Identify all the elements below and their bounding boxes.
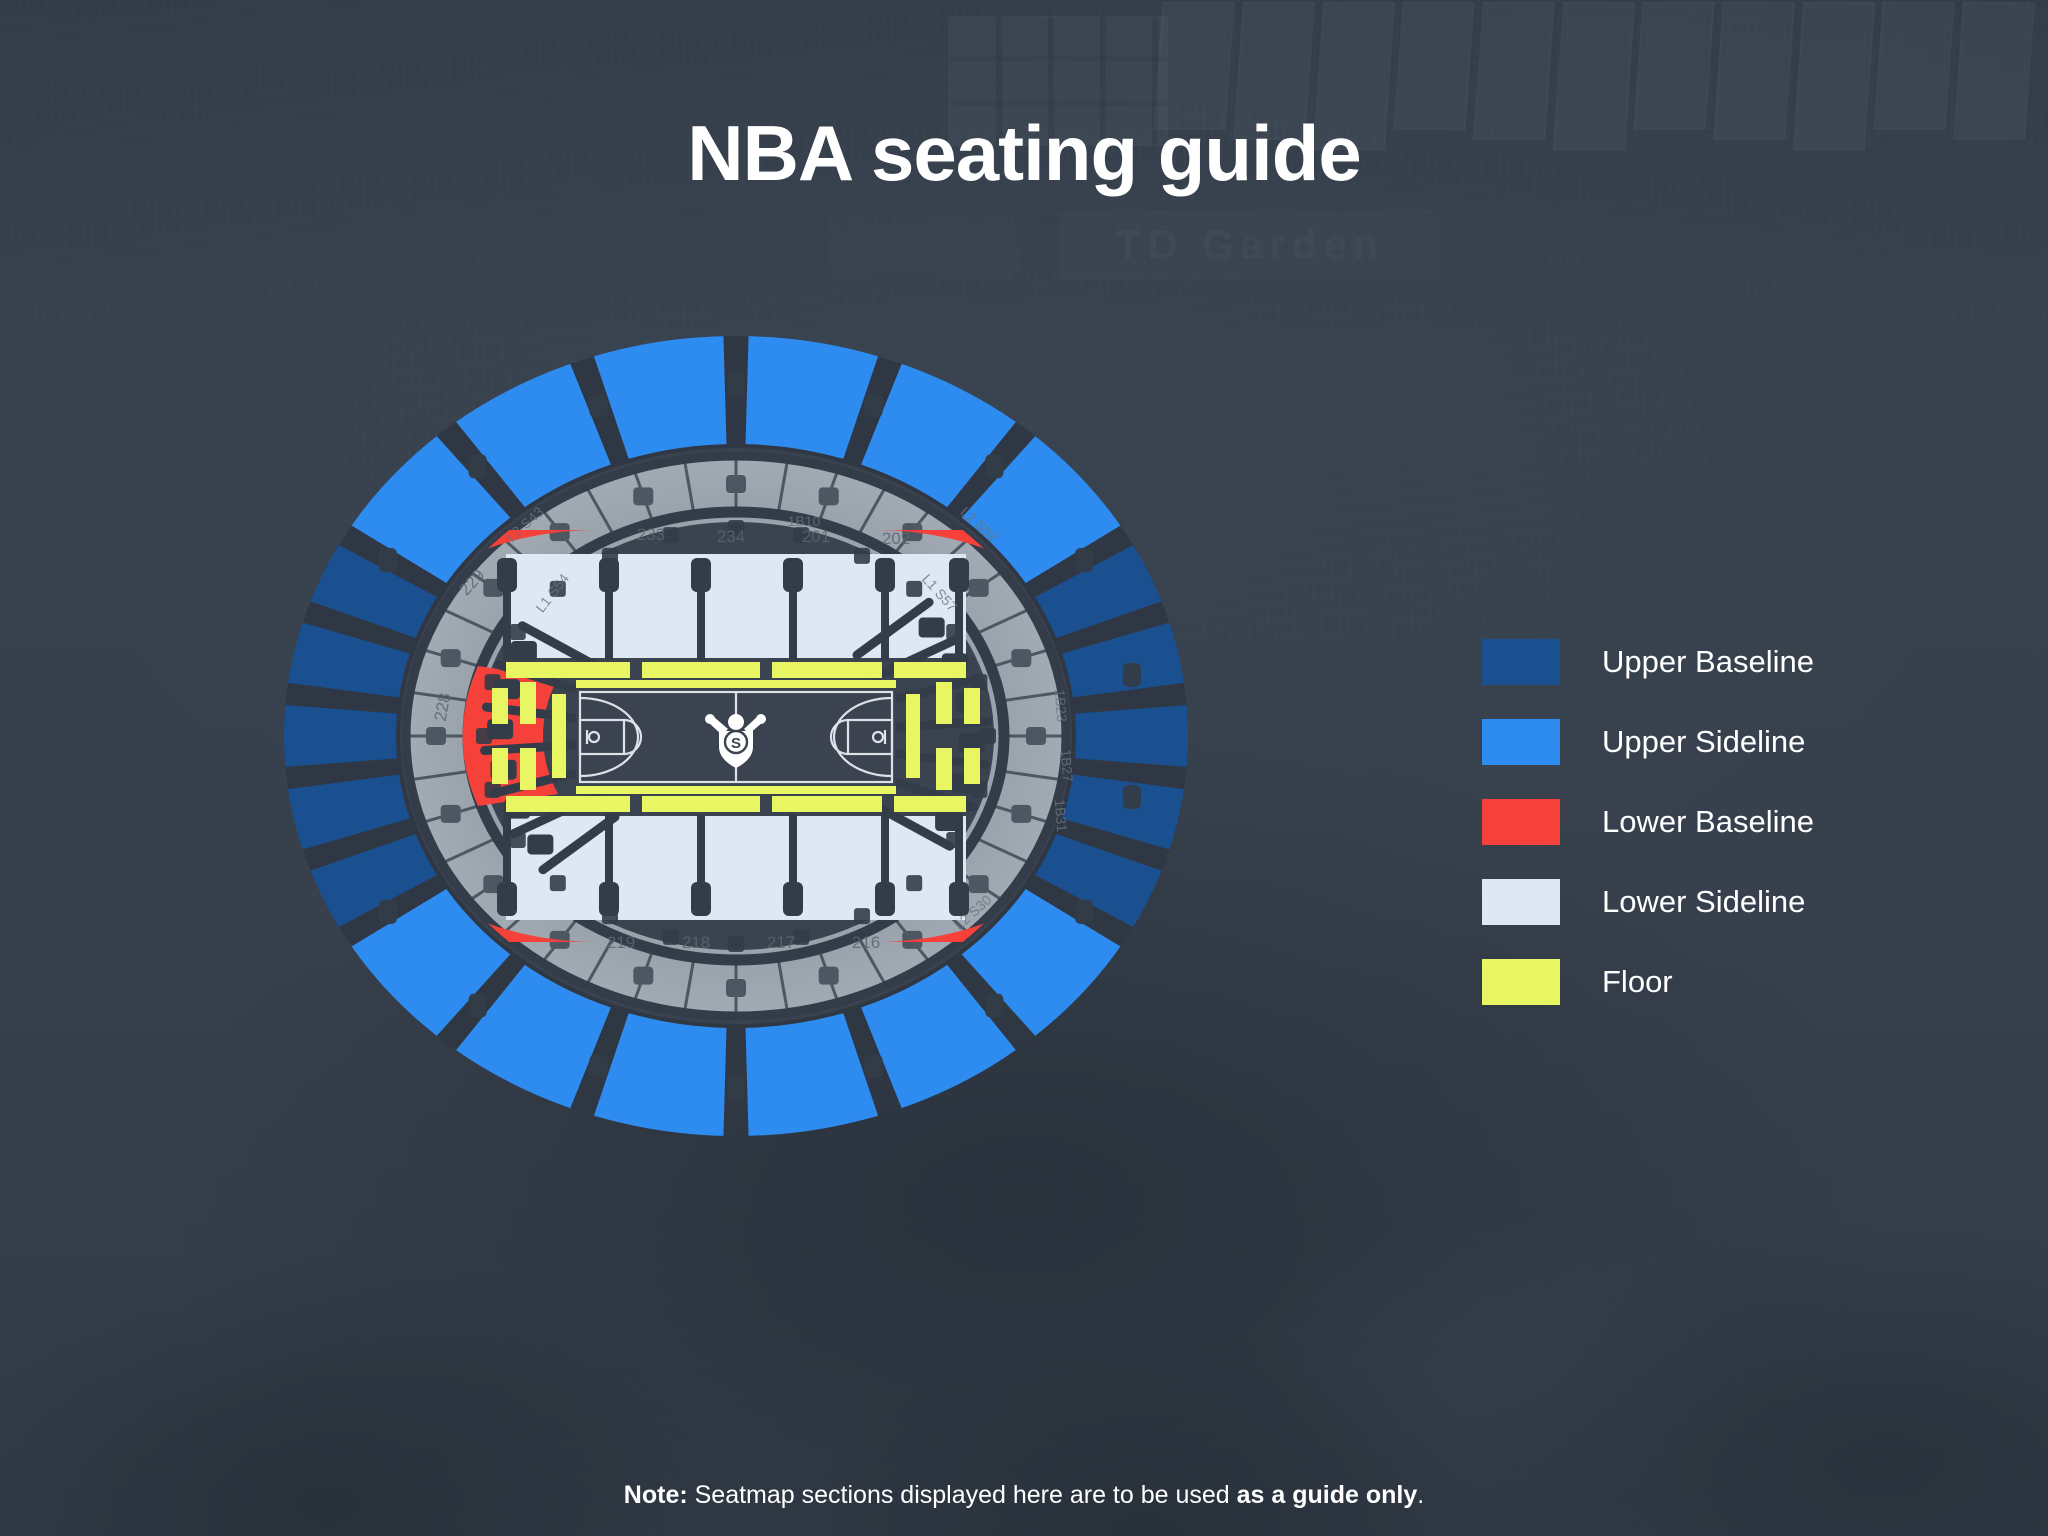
concourse-label: 1B31 [1052, 799, 1070, 833]
concourse-vomitory [726, 475, 746, 493]
concourse-vomitory [633, 967, 653, 985]
section-label: 201 [802, 527, 830, 546]
lower-bowl-vomitory [906, 581, 922, 597]
lower-sideline-aisle [783, 558, 803, 592]
upper-vomitory [985, 994, 1003, 1018]
section-label: 216 [852, 933, 880, 952]
lower-bowl-vomitory [602, 548, 618, 564]
upper-vomitory [1123, 785, 1141, 809]
upper-vomitory [1075, 548, 1093, 572]
concourse-vomitory [819, 487, 839, 505]
lower-bowl-vomitory [485, 782, 501, 798]
upper-vomitory [727, 372, 745, 396]
lower-bowl-vomitory [946, 832, 962, 848]
section-label: 219 [607, 933, 635, 952]
lower-sideline-aisle [697, 814, 705, 884]
section-label: 233 [637, 525, 665, 544]
legend-label-lower-baseline: Lower Baseline [1602, 804, 1814, 840]
legend-label-lower-sideline: Lower Sideline [1602, 884, 1805, 920]
page-title: NBA seating guide [0, 114, 2048, 192]
legend-item-lower-sideline[interactable]: Lower Sideline [1482, 862, 1902, 942]
lower-bowl-vomitory [854, 908, 870, 924]
footer-note: Note: Seatmap sections displayed here ar… [0, 1481, 2048, 1510]
footer-note-end: . [1417, 1481, 1424, 1509]
footer-note-body: Seatmap sections displayed here are to b… [688, 1481, 1237, 1509]
lower-bowl-vomitory [946, 624, 962, 640]
seatmap-svg[interactable]: S 233234201202219218217216229228 L2 S43L… [176, 296, 1296, 1176]
concourse-vomitory [633, 487, 653, 505]
concourse-vomitory [441, 805, 461, 823]
concourse-label: 1B10 [788, 513, 821, 529]
section-label: 217 [767, 933, 795, 952]
section-label: 202 [882, 529, 910, 548]
concourse-label: 1B23 [1052, 689, 1070, 723]
baseline-entry [935, 811, 961, 831]
lower-bowl-vomitory [793, 929, 809, 945]
legend-swatch-lower-baseline [1482, 799, 1560, 845]
lower-bowl-vomitory [971, 674, 987, 690]
lower-sideline-aisle [949, 558, 969, 592]
footer-note-prefix: Note: [624, 1481, 688, 1509]
lower-bowl-vomitory [510, 832, 526, 848]
concourse-vomitory [1011, 805, 1031, 823]
legend-swatch-upper-sideline [1482, 719, 1560, 765]
baseline-entry [511, 641, 537, 661]
legend-label-floor: Floor [1602, 964, 1673, 1000]
lower-sideline-aisle [783, 882, 803, 916]
lower-sideline-aisle [497, 882, 517, 916]
upper-baseline-section[interactable] [1075, 705, 1196, 768]
lower-sideline-aisle [875, 882, 895, 916]
upper-vomitory [1075, 900, 1093, 924]
lower-bowl-vomitory [485, 674, 501, 690]
legend: Upper Baseline Upper Sideline Lower Base… [1482, 622, 1902, 1022]
lower-sideline-aisle [503, 814, 511, 884]
legend-label-upper-baseline: Upper Baseline [1602, 644, 1814, 680]
legend-label-upper-sideline: Upper Sideline [1602, 724, 1805, 760]
upper-vomitory [590, 1055, 608, 1079]
concourse-vomitory [441, 649, 461, 667]
lower-sideline-aisle [605, 590, 613, 660]
concourse-vomitory [1011, 649, 1031, 667]
lower-sideline-aisle [497, 558, 517, 592]
baseline-entry [919, 618, 945, 638]
section-label: 218 [682, 933, 710, 952]
lower-sideline-aisle [789, 814, 797, 884]
nba-seating-guide-page: TD Garden NBA seating guide [0, 0, 2048, 1536]
lower-bowl-vomitory [663, 929, 679, 945]
lower-sideline-aisle [691, 558, 711, 592]
lower-sideline-aisle [789, 590, 797, 660]
lower-bowl-vomitory [971, 782, 987, 798]
lower-sideline-aisle [881, 814, 889, 884]
upper-baseline-section[interactable] [276, 705, 397, 768]
seatmap[interactable]: S 233234201202219218217216229228 L2 S43L… [176, 296, 1296, 1176]
lower-bowl-vomitory [906, 875, 922, 891]
lower-bowl-vomitory [602, 908, 618, 924]
upper-vomitory [985, 454, 1003, 478]
upper-vomitory [590, 393, 608, 417]
lower-bowl-vomitory [550, 875, 566, 891]
court-logo-letter: S [731, 735, 741, 752]
legend-swatch-upper-baseline [1482, 639, 1560, 685]
lower-sideline-aisle [697, 590, 705, 660]
lower-sideline-aisle [875, 558, 895, 592]
lower-bowl-vomitory [510, 624, 526, 640]
concourse-vomitory [819, 967, 839, 985]
concourse-vomitory [726, 979, 746, 997]
lower-sideline-aisle [503, 590, 511, 660]
concourse-vomitory [969, 579, 989, 597]
footer-note-emphasis: as a guide only [1237, 1481, 1418, 1509]
lower-bowl-vomitory [728, 936, 744, 952]
upper-vomitory [864, 393, 882, 417]
lower-bowl-vomitory [980, 728, 996, 744]
legend-swatch-lower-sideline [1482, 879, 1560, 925]
legend-item-upper-baseline[interactable]: Upper Baseline [1482, 622, 1902, 702]
lower-sideline-aisle [691, 882, 711, 916]
upper-vomitory [379, 900, 397, 924]
section-label: 234 [717, 527, 745, 546]
concourse-vomitory [969, 875, 989, 893]
concourse-vomitory [426, 727, 446, 745]
lower-sideline-aisle [881, 590, 889, 660]
upper-vomitory [727, 1076, 745, 1100]
upper-vomitory [469, 454, 487, 478]
concourse-label: 1B27 [1058, 749, 1076, 783]
legend-item-floor[interactable]: Floor [1482, 942, 1902, 1022]
legend-item-upper-sideline[interactable]: Upper Sideline [1482, 702, 1902, 782]
upper-vomitory [469, 994, 487, 1018]
basketball-court: S [576, 688, 896, 786]
upper-vomitory [864, 1055, 882, 1079]
upper-vomitory [379, 548, 397, 572]
concourse-vomitory [1026, 727, 1046, 745]
lower-bowl-vomitory [476, 728, 492, 744]
legend-swatch-floor [1482, 959, 1560, 1005]
lower-bowl-vomitory [854, 548, 870, 564]
upper-vomitory [1123, 663, 1141, 687]
legend-item-lower-baseline[interactable]: Lower Baseline [1482, 782, 1902, 862]
baseline-entry [527, 834, 553, 854]
